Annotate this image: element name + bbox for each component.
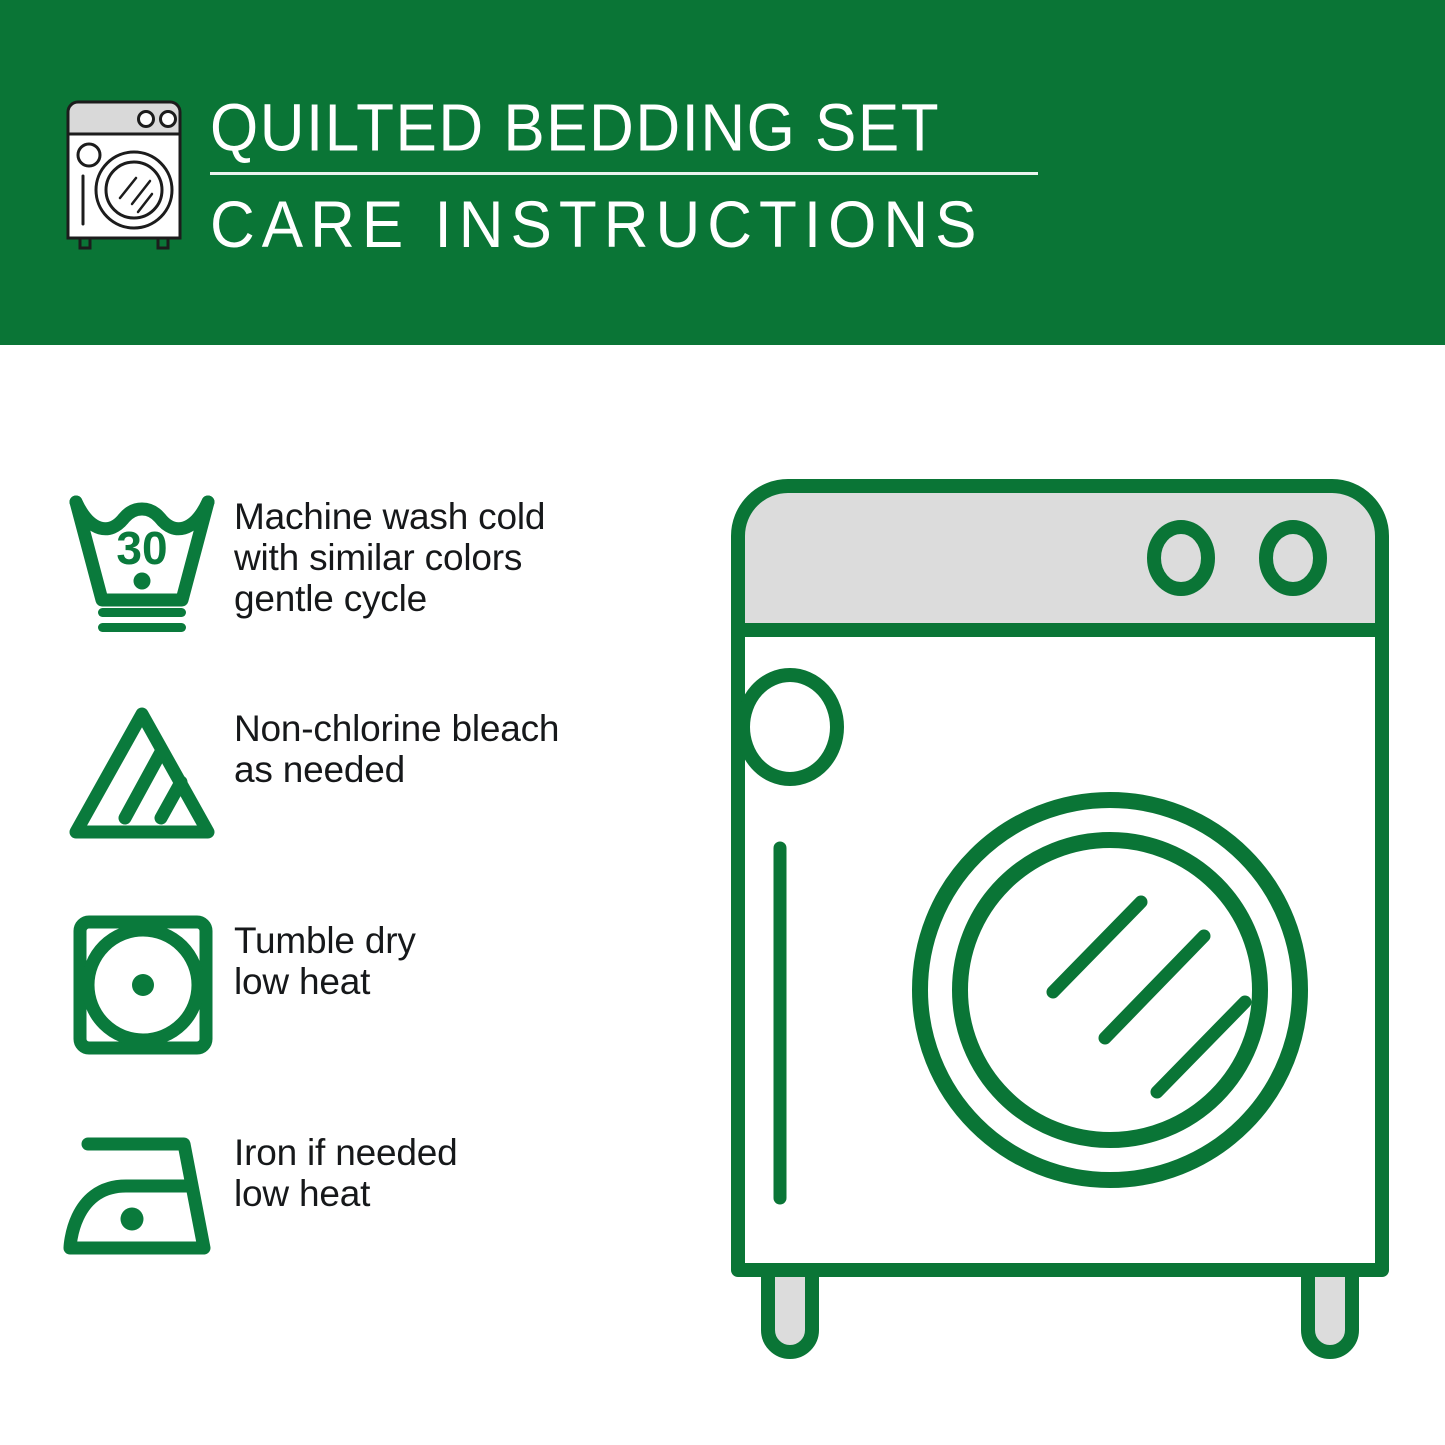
title-divider xyxy=(210,172,1038,175)
wash-tub-30-gentle-icon: 30 xyxy=(62,470,234,634)
care-row-machine-wash: 30 Machine wash cold with similar colors… xyxy=(62,470,682,682)
iron-low-heat-icon xyxy=(62,1106,234,1270)
front-load-washing-machine-illustration xyxy=(720,470,1400,1380)
page-subtitle: CARE INSTRUCTIONS xyxy=(210,191,1060,261)
header-banner: QUILTED BEDDING SET CARE INSTRUCTIONS xyxy=(0,0,1445,345)
care-instructions-page: QUILTED BEDDING SET CARE INSTRUCTIONS 30 xyxy=(0,0,1445,1445)
leg-right xyxy=(1308,1270,1352,1352)
care-row-tumble-dry: Tumble dry low heat xyxy=(62,894,682,1106)
page-title: QUILTED BEDDING SET xyxy=(210,92,1060,165)
care-instruction-list: 30 Machine wash cold with similar colors… xyxy=(62,470,682,1318)
care-row-iron: Iron if needed low heat xyxy=(62,1106,682,1318)
care-text-iron: Iron if needed low heat xyxy=(234,1106,682,1214)
washing-machine-icon xyxy=(62,98,194,253)
care-text-machine-wash: Machine wash cold with similar colors ge… xyxy=(234,470,682,619)
header-text-block: QUILTED BEDDING SET CARE INSTRUCTIONS xyxy=(210,92,1060,257)
tumble-dry-low-icon xyxy=(62,894,234,1058)
care-text-bleach: Non-chlorine bleach as needed xyxy=(234,682,682,790)
non-chlorine-bleach-triangle-icon xyxy=(62,682,234,846)
wash-temperature-value: 30 xyxy=(116,522,167,574)
care-row-bleach: Non-chlorine bleach as needed xyxy=(62,682,682,894)
care-text-tumble-dry: Tumble dry low heat xyxy=(234,894,682,1002)
header-content: QUILTED BEDDING SET CARE INSTRUCTIONS xyxy=(62,92,1062,272)
leg-left xyxy=(768,1270,812,1352)
